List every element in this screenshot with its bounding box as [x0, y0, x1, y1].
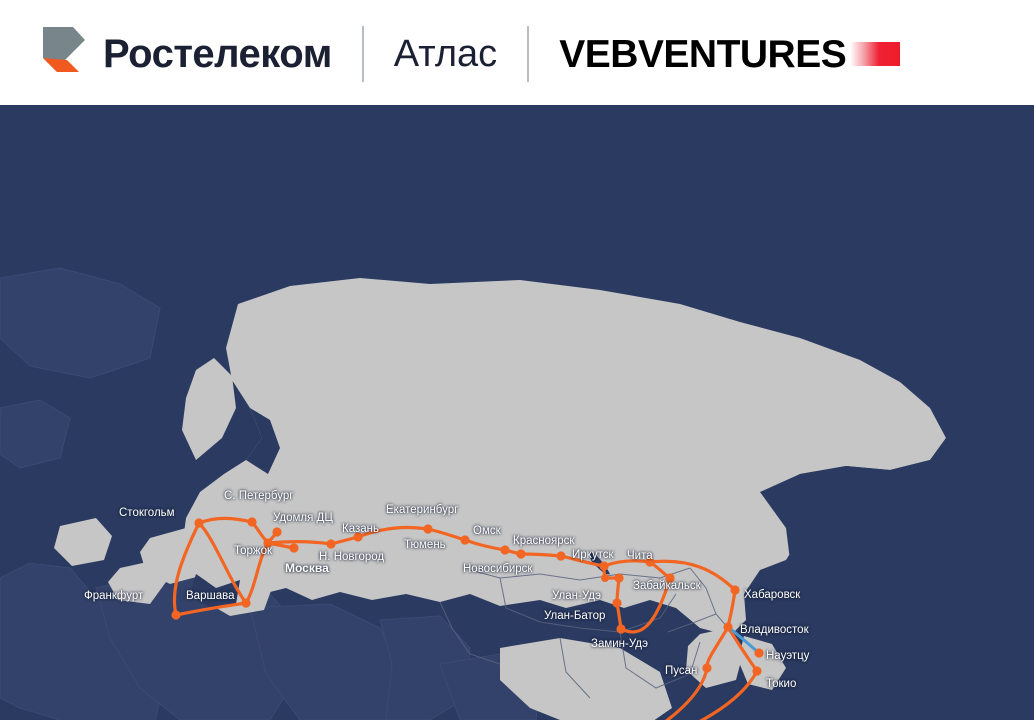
- vebventures-brand[interactable]: VEBVENTURES: [559, 35, 900, 74]
- node-busan[interactable]: [702, 663, 711, 672]
- node-tyumen[interactable]: [460, 535, 469, 544]
- rostelecom-brand[interactable]: Ростелеком: [0, 0, 332, 108]
- header-bar: Ростелеком Атлас VEBVENTURES: [0, 0, 1034, 108]
- node-ekaterinburg[interactable]: [423, 524, 432, 533]
- node-naoetsu[interactable]: [754, 648, 763, 657]
- node-frankfurt[interactable]: [171, 610, 180, 619]
- header-divider-2: [527, 26, 529, 82]
- node-irkutsk2[interactable]: [601, 574, 609, 582]
- atlas-wordmark: Атлас: [394, 35, 497, 73]
- node-krasnoyarsk[interactable]: [556, 551, 565, 560]
- node-moscow[interactable]: [289, 543, 298, 552]
- network-map[interactable]: ФранкфуртВаршаваСтокгольмС. ПетербургУдо…: [0, 108, 1034, 720]
- node-omsk[interactable]: [500, 545, 509, 554]
- node-novosibirsk[interactable]: [516, 549, 525, 558]
- node-spb[interactable]: [247, 517, 256, 526]
- map-canvas: [0, 108, 1034, 720]
- page-root: Ростелеком Атлас VEBVENTURES: [0, 0, 1034, 720]
- node-ulanbator[interactable]: [612, 598, 621, 607]
- node-irkutsk[interactable]: [599, 561, 608, 570]
- node-vladivostok[interactable]: [723, 622, 732, 631]
- header-divider-1: [362, 26, 364, 82]
- node-stockholm[interactable]: [194, 518, 203, 527]
- node-kazan[interactable]: [353, 532, 362, 541]
- node-khabarovsk[interactable]: [730, 585, 739, 594]
- node-chita[interactable]: [645, 557, 654, 566]
- node-nnovgorod[interactable]: [326, 539, 335, 548]
- vebventures-flag-icon: [850, 42, 900, 66]
- node-torzhok[interactable]: [263, 538, 272, 547]
- node-warsaw[interactable]: [241, 598, 250, 607]
- rostelecom-wordmark: Ростелеком: [103, 34, 332, 74]
- node-zaminude[interactable]: [616, 624, 625, 633]
- vebventures-wordmark: VEBVENTURES: [559, 35, 846, 74]
- node-tokyo[interactable]: [752, 666, 761, 675]
- node-udomlya[interactable]: [272, 527, 281, 536]
- node-ulanude[interactable]: [614, 573, 623, 582]
- rostelecom-logo-icon: [33, 23, 89, 85]
- node-zabaikalsk[interactable]: [665, 573, 674, 582]
